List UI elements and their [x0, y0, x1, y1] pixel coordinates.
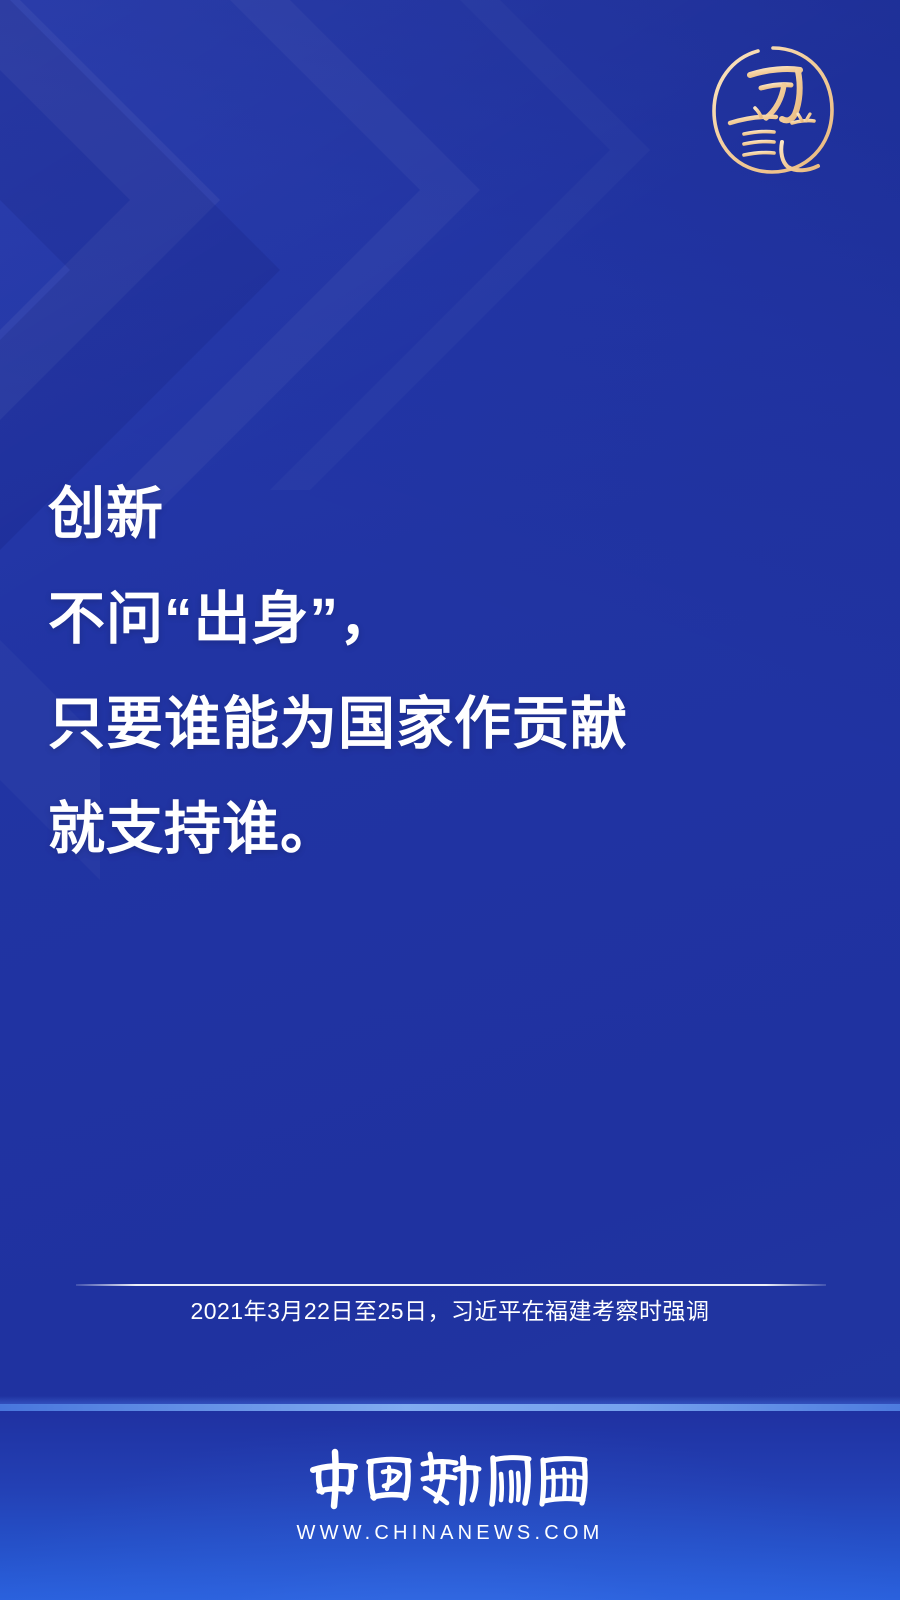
quote-line: 创新 — [48, 462, 858, 567]
quote-block: 创新 不问“出身”， 只要谁能为国家作贡献 就支持谁。 — [48, 462, 858, 882]
chinanews-wordmark-icon — [305, 1446, 595, 1512]
xi-yan-dao-seal-icon — [700, 38, 846, 184]
brand-block: WWW.CHINANEWS.COM — [0, 1446, 900, 1545]
chinanews-url: WWW.CHINANEWS.COM — [0, 1522, 900, 1545]
accent-band — [0, 1404, 900, 1411]
quote-line: 只要谁能为国家作贡献 — [48, 672, 858, 777]
quote-line: 就支持谁。 — [48, 777, 858, 882]
source-caption: 2021年3月22日至25日，习近平在福建考察时强调 — [0, 1294, 900, 1328]
poster-canvas: 创新 不问“出身”， 只要谁能为国家作贡献 就支持谁。 2021年3月22日至2… — [0, 0, 900, 1600]
caption-divider — [76, 1284, 826, 1286]
quote-line: 不问“出身”， — [48, 567, 858, 672]
